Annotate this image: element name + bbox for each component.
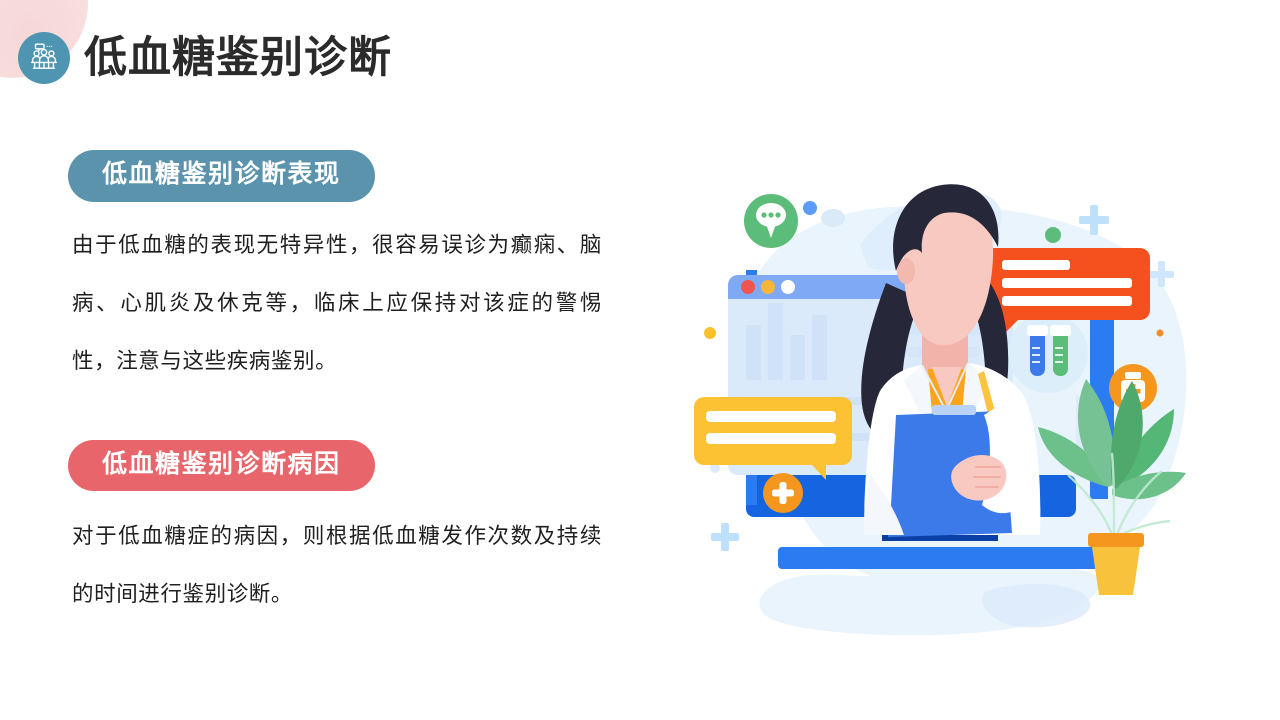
monitor-base [778, 547, 1100, 569]
plant-pot-rim [1088, 533, 1144, 547]
decor-dot-green [1045, 227, 1061, 243]
page-title: 低血糖鉴别诊断 [84, 37, 392, 80]
team-meeting-icon [18, 32, 70, 84]
decor-dot-yellow [704, 327, 716, 339]
browser-dot-yellow [761, 280, 775, 294]
clipboard-clip [932, 405, 976, 415]
decor-dot-pale [821, 209, 845, 227]
section-body-causes: 对于低血糖症的病因，则根据低血糖发作次数及持续的时间进行鉴别诊断。 [72, 507, 602, 623]
plant-pot-body [1092, 547, 1140, 595]
section-causes: 低血糖鉴别诊断病因 对于低血糖症的病因，则根据低血糖发作次数及持续的时间进行鉴别… [68, 440, 608, 624]
browser-dot-white [781, 280, 795, 294]
decor-dot-orange [1157, 330, 1164, 337]
test-tube-blue [1027, 325, 1048, 376]
section-symptoms: 低血糖鉴别诊断表现 由于低血糖的表现无特异性，很容易误诊为癫痫、脑病、心肌炎及休… [68, 150, 608, 390]
doctor-telemedicine-illustration [690, 175, 1230, 635]
decor-dot-blue [803, 201, 817, 215]
green-message-icon [744, 194, 798, 248]
section-badge-symptoms[interactable]: 低血糖鉴别诊断表现 [68, 150, 375, 202]
content-column: 低血糖鉴别诊断表现 由于低血糖的表现无特异性，很容易误诊为癫痫、脑病、心肌炎及休… [68, 150, 608, 623]
section-badge-causes[interactable]: 低血糖鉴别诊断病因 [68, 440, 375, 492]
section-body-symptoms: 由于低血糖的表现无特异性，很容易误诊为癫痫、脑病、心肌炎及休克等，临床上应保持对… [72, 216, 602, 390]
test-tube-green [1050, 325, 1071, 376]
browser-dot-red [741, 280, 755, 294]
decor-plus-bottomleft [711, 523, 739, 551]
test-tubes [1008, 313, 1088, 393]
plus-button-icon [763, 473, 803, 513]
page-header: 低血糖鉴别诊断 [18, 32, 392, 84]
